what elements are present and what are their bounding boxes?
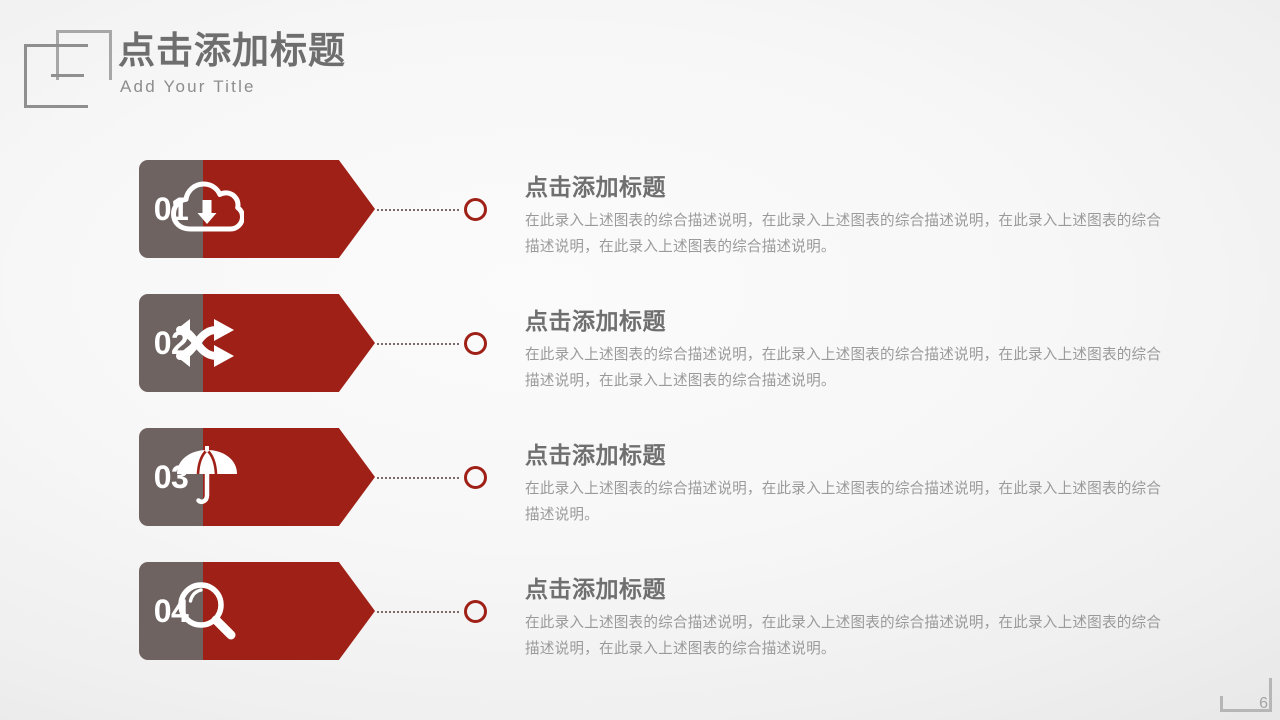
dotted-connector — [377, 343, 459, 345]
item-description: 在此录入上述图表的综合描述说明，在此录入上述图表的综合描述说明，在此录入上述图表… — [525, 477, 1175, 527]
page-number: 6 — [1259, 696, 1268, 712]
dotted-connector — [377, 477, 459, 479]
title-block: 点击添加标题 Add Your Title — [118, 30, 346, 97]
item-description: 在此录入上述图表的综合描述说明，在此录入上述图表的综合描述说明，在此录入上述图表… — [525, 209, 1175, 259]
dotted-connector — [377, 209, 459, 211]
node-circle[interactable] — [464, 466, 487, 489]
node-circle[interactable] — [464, 332, 487, 355]
text-block: 点击添加标题 在此录入上述图表的综合描述说明，在此录入上述图表的综合描述说明，在… — [525, 308, 1175, 394]
item-heading: 点击添加标题 — [525, 308, 1175, 334]
item-description: 在此录入上述图表的综合描述说明，在此录入上述图表的综合描述说明，在此录入上述图表… — [525, 343, 1175, 393]
banner-03[interactable]: 03 — [139, 428, 375, 526]
shuffle-icon — [155, 307, 259, 379]
text-block: 点击添加标题 在此录入上述图表的综合描述说明，在此录入上述图表的综合描述说明，在… — [525, 174, 1175, 260]
page-subtitle: Add Your Title — [120, 77, 346, 97]
umbrella-icon — [155, 441, 259, 513]
banner-04[interactable]: 04 — [139, 562, 375, 660]
slide-canvas: 点击添加标题 Add Your Title 01 — [0, 0, 1280, 720]
node-circle[interactable] — [464, 600, 487, 623]
item-heading: 点击添加标题 — [525, 174, 1175, 200]
banner-01[interactable]: 01 — [139, 160, 375, 258]
dotted-connector — [377, 611, 459, 613]
item-heading: 点击添加标题 — [525, 442, 1175, 468]
slide-header: 点击添加标题 Add Your Title — [0, 0, 1280, 130]
text-block: 点击添加标题 在此录入上述图表的综合描述说明，在此录入上述图表的综合描述说明，在… — [525, 442, 1175, 528]
item-heading: 点击添加标题 — [525, 576, 1175, 602]
cloud-download-icon — [155, 173, 259, 245]
text-block: 点击添加标题 在此录入上述图表的综合描述说明，在此录入上述图表的综合描述说明，在… — [525, 576, 1175, 662]
node-circle[interactable] — [464, 198, 487, 221]
magnifier-icon — [155, 575, 259, 647]
overlapping-squares-logo-icon — [24, 30, 112, 108]
banner-02[interactable]: 02 — [139, 294, 375, 392]
item-description: 在此录入上述图表的综合描述说明，在此录入上述图表的综合描述说明，在此录入上述图表… — [525, 611, 1175, 661]
page-title: 点击添加标题 — [118, 30, 346, 71]
